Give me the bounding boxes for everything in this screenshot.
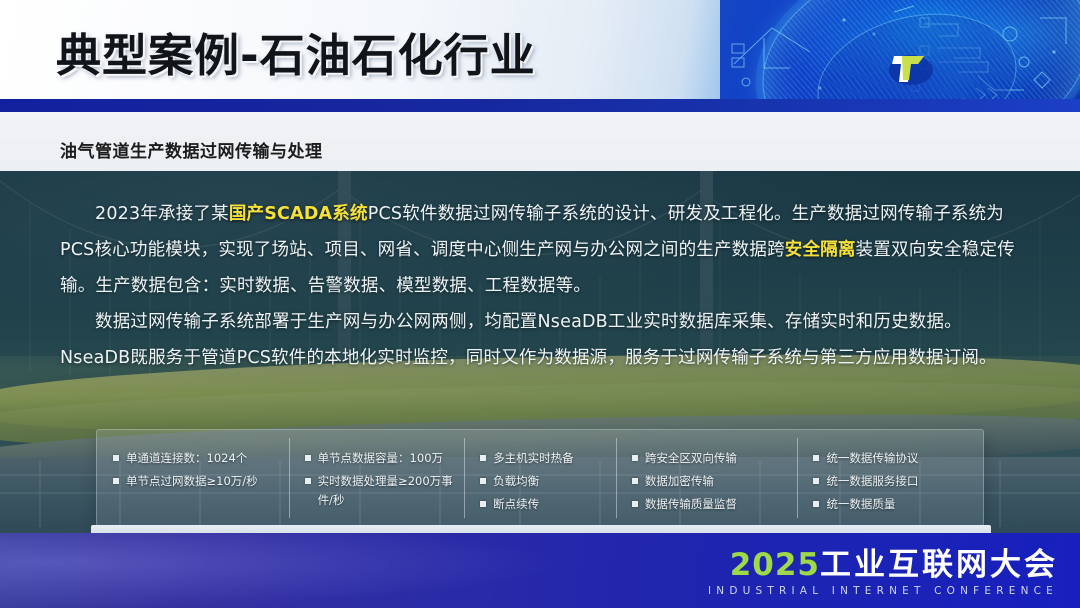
square-bullet-icon bbox=[813, 501, 819, 507]
spec-card: 单通道连接数：1024个 单节点过网数据≥10万/秒 单节点数据容量：100万 … bbox=[96, 429, 984, 526]
square-bullet-icon bbox=[113, 455, 119, 461]
square-bullet-icon bbox=[305, 478, 311, 484]
slide-header: 典型案例-石油石化行业 bbox=[0, 0, 1080, 112]
list-item: 数据加密传输 bbox=[632, 472, 788, 491]
p1-segment-1: 2023年承接了某 bbox=[95, 204, 229, 224]
square-bullet-icon bbox=[632, 455, 638, 461]
spec-text: 实时数据处理量≥200万事件/秒 bbox=[318, 472, 455, 510]
spec-text: 统一数据传输协议 bbox=[826, 449, 973, 468]
square-bullet-icon bbox=[632, 501, 638, 507]
list-item: 负载均衡 bbox=[480, 472, 606, 491]
square-bullet-icon bbox=[305, 455, 311, 461]
logo-chinese-name: 工业互联网大会 bbox=[820, 547, 1058, 583]
spec-text: 数据加密传输 bbox=[645, 472, 788, 491]
spec-column-1: 单通道连接数：1024个 单节点过网数据≥10万/秒 bbox=[97, 430, 289, 525]
spec-text: 多主机实时热备 bbox=[493, 449, 606, 468]
list-item: 实时数据处理量≥200万事件/秒 bbox=[305, 472, 455, 510]
spec-text: 数据传输质量监督 bbox=[645, 495, 788, 514]
case-description: 2023年承接了某国产SCADA系统PCS软件数据过网传输子系统的设计、研发及工… bbox=[60, 196, 1025, 376]
spec-text: 统一数据服务接口 bbox=[826, 472, 973, 491]
list-item: 跨安全区双向传输 bbox=[632, 449, 788, 468]
spec-text: 跨安全区双向传输 bbox=[645, 449, 788, 468]
list-item: 断点续传 bbox=[480, 495, 606, 514]
paragraph-2: 数据过网传输子系统部署于生产网与办公网两侧，均配置NseaDB工业实时数据库采集… bbox=[60, 304, 1025, 376]
paragraph-1: 2023年承接了某国产SCADA系统PCS软件数据过网传输子系统的设计、研发及工… bbox=[60, 196, 1025, 304]
list-item: 单通道连接数：1024个 bbox=[113, 449, 279, 468]
spec-text: 单节点数据容量：100万 bbox=[318, 449, 455, 468]
slide-footer: 2025工业互联网大会 INDUSTRIAL INTERNET CONFEREN… bbox=[0, 533, 1080, 608]
logo-year: 2025 bbox=[730, 547, 820, 583]
list-item: 单节点过网数据≥10万/秒 bbox=[113, 472, 279, 491]
highlight-scada: 国产SCADA系统 bbox=[229, 204, 368, 224]
conference-logo: 2025工业互联网大会 INDUSTRIAL INTERNET CONFEREN… bbox=[708, 547, 1058, 597]
logo-english-name: INDUSTRIAL INTERNET CONFERENCE bbox=[708, 585, 1058, 597]
header-rule bbox=[0, 99, 1080, 112]
square-bullet-icon bbox=[113, 478, 119, 484]
list-item: 统一数据传输协议 bbox=[813, 449, 973, 468]
spec-text: 断点续传 bbox=[493, 495, 606, 514]
spec-column-4: 跨安全区双向传输 数据加密传输 数据传输质量监督 bbox=[616, 430, 798, 525]
spec-text: 单通道连接数：1024个 bbox=[126, 449, 279, 468]
square-bullet-icon bbox=[632, 478, 638, 484]
list-item: 单节点数据容量：100万 bbox=[305, 449, 455, 468]
square-bullet-icon bbox=[813, 478, 819, 484]
logo-main-line: 2025工业互联网大会 bbox=[708, 547, 1058, 583]
list-item: 统一数据服务接口 bbox=[813, 472, 973, 491]
t-logo-icon bbox=[888, 46, 934, 86]
highlight-isolation: 安全隔离 bbox=[785, 240, 856, 260]
spec-column-5: 统一数据传输协议 统一数据服务接口 统一数据质量 bbox=[797, 430, 983, 525]
list-item: 数据传输质量监督 bbox=[632, 495, 788, 514]
square-bullet-icon bbox=[480, 478, 486, 484]
tech-globe-graphic bbox=[720, 0, 1080, 112]
spec-text: 统一数据质量 bbox=[826, 495, 973, 514]
spec-column-3: 多主机实时热备 负载均衡 断点续传 bbox=[464, 430, 616, 525]
square-bullet-icon bbox=[480, 501, 486, 507]
square-bullet-icon bbox=[480, 455, 486, 461]
list-item: 多主机实时热备 bbox=[480, 449, 606, 468]
square-bullet-icon bbox=[813, 455, 819, 461]
page-title: 典型案例-石油石化行业 bbox=[56, 17, 536, 95]
section-subtitle: 油气管道生产数据过网传输与处理 bbox=[60, 137, 323, 162]
spec-column-2: 单节点数据容量：100万 实时数据处理量≥200万事件/秒 bbox=[289, 430, 465, 525]
spec-text: 负载均衡 bbox=[493, 472, 606, 491]
list-item: 统一数据质量 bbox=[813, 495, 973, 514]
spec-text: 单节点过网数据≥10万/秒 bbox=[126, 472, 279, 491]
